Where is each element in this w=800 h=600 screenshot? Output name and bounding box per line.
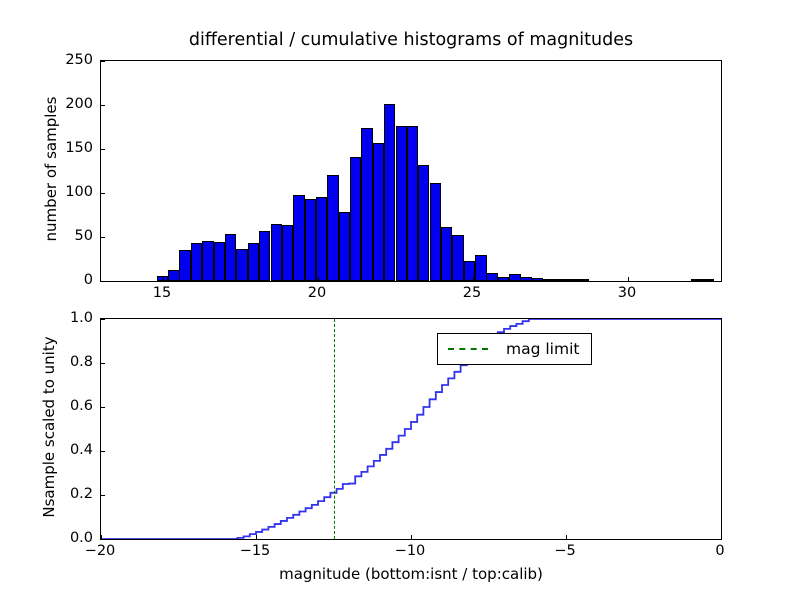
y-tick-mark xyxy=(101,105,105,106)
top-panel-y-axis-label: number of samples xyxy=(42,58,60,280)
page-title: differential / cumulative histograms of … xyxy=(100,30,722,50)
histogram-bar xyxy=(520,277,531,281)
histogram-bar xyxy=(305,199,316,281)
x-tick-label: 30 xyxy=(592,285,662,301)
x-tick-label: 20 xyxy=(282,285,352,301)
histogram-bar xyxy=(486,273,497,281)
mag-limit-vline xyxy=(334,319,335,539)
histogram-bar xyxy=(316,197,327,281)
y-tick-mark xyxy=(101,495,105,496)
x-tick-mark xyxy=(256,535,257,539)
histogram-bar xyxy=(339,212,350,281)
histogram-bar xyxy=(577,279,588,281)
histogram-bar xyxy=(702,279,713,281)
x-tick-mark xyxy=(101,535,102,539)
histogram-bar xyxy=(452,235,463,281)
histogram-bar xyxy=(293,195,304,281)
histogram-bar xyxy=(396,126,407,281)
legend-item-label: mag limit xyxy=(506,340,579,358)
histogram-bar xyxy=(498,277,509,281)
histogram-bar xyxy=(555,279,566,281)
y-tick-mark xyxy=(101,319,105,320)
y-tick-label: 100 xyxy=(3,185,93,200)
histogram-axes xyxy=(100,60,722,282)
mag-limit-dash-icon xyxy=(448,348,488,350)
histogram-bar xyxy=(202,241,213,281)
y-tick-label: 0.4 xyxy=(3,443,93,458)
x-tick-mark xyxy=(473,277,474,281)
histogram-bar xyxy=(373,143,384,281)
y-tick-mark xyxy=(101,407,105,408)
histogram-bar xyxy=(407,126,418,281)
y-tick-mark xyxy=(101,61,105,62)
x-tick-mark xyxy=(721,535,722,539)
bottom-panel-y-axis-label: Nsample scaled to unity xyxy=(40,316,58,538)
cumulative-curve xyxy=(101,319,721,539)
histogram-bar xyxy=(191,243,202,281)
histogram-bar xyxy=(236,249,247,281)
x-tick-label: 0 xyxy=(685,543,755,559)
histogram-bar xyxy=(168,270,179,281)
histogram-bar xyxy=(361,128,372,281)
y-tick-label: 0.2 xyxy=(3,487,93,502)
histogram-bar xyxy=(350,157,361,281)
y-tick-mark xyxy=(101,363,105,364)
histogram-bar xyxy=(691,279,702,281)
x-tick-label: −5 xyxy=(530,543,600,559)
y-tick-label: 250 xyxy=(3,53,93,68)
y-tick-mark xyxy=(101,451,105,452)
histogram-bar xyxy=(543,279,554,281)
histogram-bar xyxy=(430,183,441,281)
x-tick-label: 15 xyxy=(127,285,197,301)
y-tick-label: 150 xyxy=(3,141,93,156)
y-tick-label: 1.0 xyxy=(3,311,93,326)
histogram-bar xyxy=(532,278,543,281)
figure-x-axis-label: magnitude (bottom:isnt / top:calib) xyxy=(100,565,722,583)
y-tick-mark xyxy=(101,193,105,194)
y-tick-mark xyxy=(101,237,105,238)
y-tick-mark xyxy=(101,281,105,282)
cumulative-axes: mag limit xyxy=(100,318,722,540)
x-tick-mark xyxy=(628,277,629,281)
histogram-bars xyxy=(101,61,721,281)
histogram-bar xyxy=(214,242,225,281)
y-tick-mark xyxy=(101,149,105,150)
x-tick-label: −10 xyxy=(375,543,445,559)
histogram-bar xyxy=(327,175,338,281)
y-tick-label: 50 xyxy=(3,229,93,244)
histogram-bar xyxy=(282,225,293,281)
histogram-bar xyxy=(225,234,236,281)
x-tick-mark xyxy=(411,535,412,539)
histogram-bar xyxy=(509,274,520,281)
histogram-bar xyxy=(271,224,282,281)
y-tick-label: 0.6 xyxy=(3,399,93,414)
x-tick-label: −20 xyxy=(65,543,135,559)
y-tick-label: 0 xyxy=(3,273,93,288)
histogram-bar xyxy=(259,231,270,281)
y-tick-label: 200 xyxy=(3,97,93,112)
figure-canvas: differential / cumulative histograms of … xyxy=(0,0,800,600)
x-tick-label: 25 xyxy=(437,285,507,301)
histogram-bar xyxy=(384,104,395,281)
x-tick-mark xyxy=(566,535,567,539)
histogram-bar xyxy=(475,255,486,281)
histogram-bar xyxy=(441,227,452,281)
legend: mag limit xyxy=(437,333,592,365)
x-tick-mark xyxy=(318,277,319,281)
y-tick-mark xyxy=(101,539,105,540)
histogram-bar xyxy=(566,279,577,281)
x-tick-mark xyxy=(163,277,164,281)
histogram-bar xyxy=(179,250,190,281)
x-tick-label: −15 xyxy=(220,543,290,559)
histogram-bar xyxy=(418,165,429,281)
y-tick-label: 0.8 xyxy=(3,355,93,370)
histogram-bar xyxy=(248,243,259,281)
